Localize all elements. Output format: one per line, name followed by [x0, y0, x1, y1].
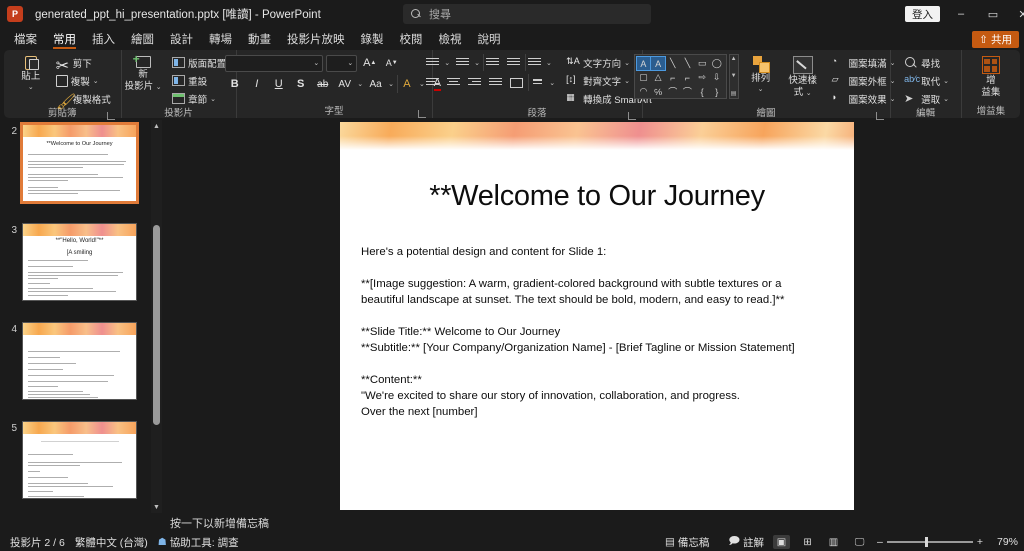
scrollbar-thumb[interactable] — [153, 225, 160, 425]
drawing-dialog-launcher[interactable] — [876, 112, 884, 120]
slide-editing-area: **Welcome to Our Journey Here's a potent… — [163, 120, 1024, 513]
numbering-chevron-down-icon[interactable]: ⌄ — [474, 59, 480, 67]
thumbnail-slide-2[interactable]: **Welcome to Our Journey — [22, 124, 137, 202]
replace-chevron-down-icon[interactable]: ⌄ — [943, 77, 949, 85]
quick-styles-button[interactable]: 快速樣 式 ⌄ — [783, 54, 823, 99]
gallery-scroll-down-icon[interactable]: ▼ — [731, 73, 737, 79]
reset-label: 重設 — [188, 74, 207, 88]
section-icon — [172, 93, 185, 104]
addins-group-label: 增益集 — [966, 105, 1016, 118]
slide-banner-gradient — [23, 125, 136, 137]
shrink-font-button[interactable]: A▼ — [382, 54, 401, 72]
share-button[interactable]: ⇧ 共用 — [972, 31, 1019, 48]
decrease-indent-button[interactable] — [483, 54, 501, 71]
slide-body-text[interactable]: Here's a potential design and content fo… — [361, 244, 824, 420]
bold-button[interactable]: B — [225, 75, 244, 93]
ribbon-group-paragraph: ⌄ ⌄ ⌄ ⌄ — [432, 50, 642, 118]
addins-button[interactable]: 增 益集 — [971, 54, 1011, 98]
cut-button[interactable]: ✂ 剪下 — [53, 54, 114, 71]
paste-icon — [25, 56, 37, 70]
smartart-icon: ▦ — [566, 92, 580, 106]
sign-in-button[interactable]: 登入 — [905, 6, 940, 22]
copy-icon — [56, 75, 68, 87]
reset-icon — [172, 75, 185, 86]
shape-effects-button[interactable]: ◗ 圖案效果 ⌄ — [829, 90, 899, 107]
shape-line[interactable]: ╲ — [666, 57, 680, 70]
paste-label: 貼上 — [21, 71, 40, 82]
share-label: 共用 — [991, 32, 1012, 47]
shape-right-brace[interactable]: } — [710, 85, 724, 98]
tab-slideshow[interactable]: 投影片放映 — [279, 28, 353, 50]
current-slide[interactable]: **Welcome to Our Journey Here's a potent… — [340, 122, 854, 510]
slides-group-label: 投影片 — [126, 107, 232, 120]
arrange-icon — [753, 56, 769, 72]
title-bar: P generated_ppt_hi_presentation.pptx [唯讀… — [0, 0, 1024, 28]
comments-button[interactable]: 🗩 註解 — [728, 533, 764, 551]
character-spacing-chevron-down-icon[interactable]: ⌄ — [357, 80, 363, 88]
shape-outline-icon: ▱ — [832, 74, 846, 88]
zoom-knob[interactable] — [925, 537, 928, 547]
text-direction-label: 文字方向 — [583, 56, 621, 70]
replace-label: 取代 — [921, 74, 940, 88]
justify-button[interactable] — [486, 74, 504, 91]
section-label: 章節 — [188, 92, 207, 106]
shape-curve-2[interactable]: ⌒ — [681, 85, 695, 98]
numbering-button[interactable] — [453, 54, 471, 71]
align-text-chevron-down-icon[interactable]: ⌄ — [624, 77, 630, 85]
format-painter-button[interactable]: 🖌 複製格式 — [53, 90, 114, 107]
font-dialog-launcher[interactable] — [418, 110, 426, 118]
shape-curve-1[interactable]: ⌒ — [666, 85, 680, 98]
view-slide-sorter-button[interactable]: ⊞ — [799, 535, 816, 549]
layout-icon — [172, 57, 185, 68]
shape-down-arrow[interactable]: ⇩ — [710, 71, 724, 84]
shape-elbow-1[interactable]: ⌐ — [666, 71, 680, 84]
format-painter-label: 複製格式 — [73, 92, 111, 106]
paragraph-group-label: 段落 — [437, 107, 638, 120]
tab-record[interactable]: 錄製 — [353, 28, 392, 50]
clipboard-dialog-launcher[interactable] — [107, 112, 115, 120]
list-item[interactable]: 4 — [0, 322, 150, 400]
shape-textbox-vertical[interactable]: A — [651, 57, 665, 70]
slide-counter[interactable]: 投影片 2 / 6 — [10, 535, 65, 550]
underline-button[interactable]: U — [269, 75, 288, 93]
addins-icon — [982, 56, 1000, 74]
accessibility-status[interactable]: ☗ 協助工具: 調查 — [158, 535, 239, 550]
select-button[interactable]: ➤ 選取 ⌄ — [901, 90, 952, 107]
view-normal-button[interactable]: ▣ — [773, 535, 790, 549]
tab-draw[interactable]: 繪圖 — [123, 28, 162, 50]
align-right-button[interactable] — [465, 74, 483, 91]
line-spacing-button[interactable] — [525, 54, 543, 71]
replace-icon: ab⁄c — [904, 74, 918, 88]
paste-chevron-down-icon[interactable]: ⌄ — [28, 83, 34, 91]
close-button[interactable]: ✕ — [1008, 0, 1024, 28]
notes-pane[interactable]: 按一下以新增備忘稿 — [163, 513, 1024, 533]
shape-elbow-2[interactable]: ⌐ — [681, 71, 695, 84]
thumbnail-number: 4 — [0, 322, 22, 400]
font-group-label: 字型 — [241, 105, 428, 118]
drawing-group-label: 繪圖 — [647, 107, 886, 120]
shape-left-brace[interactable]: { — [695, 85, 709, 98]
ribbon-group-addins: 增 益集 增益集 — [961, 50, 1020, 118]
search-icon — [411, 9, 422, 20]
shape-effects-label: 圖案效果 — [849, 92, 887, 106]
thumbnail-title: **"Hello, World!"** — [29, 238, 130, 244]
cut-label: 剪下 — [73, 56, 92, 70]
maximize-button[interactable]: ▭ — [978, 0, 1008, 28]
minimize-button[interactable]: – — [946, 0, 976, 28]
notes-placeholder: 按一下以新增備忘稿 — [170, 515, 269, 531]
cursor-icon: ➤ — [904, 92, 918, 106]
ribbon: 貼上 ⌄ ✂ 剪下 複製 ⌄ 🖌 複製格式 — [4, 50, 1020, 118]
change-case-chevron-down-icon[interactable]: ⌄ — [388, 80, 394, 88]
zoom-slider[interactable]: – + — [877, 536, 983, 548]
thumbnail-title: **Welcome to Our Journey — [29, 141, 130, 147]
status-bar-right: ▤ 備忘稿 🗩 註解 ▣ ⊞ ▥ 🖵 – + 79% — [655, 533, 1018, 551]
view-reading-button[interactable]: ▥ — [825, 535, 842, 549]
shape-fill-label: 圖案填滿 — [849, 56, 887, 70]
editing-group-label: 編輯 — [895, 107, 957, 120]
scissors-icon: ✂ — [56, 56, 70, 70]
line-spacing-chevron-down-icon[interactable]: ⌄ — [546, 59, 552, 67]
arrange-chevron-down-icon[interactable]: ⌄ — [758, 85, 764, 93]
powerpoint-logo-icon: P — [7, 6, 23, 22]
new-slide-icon — [136, 56, 151, 68]
zoom-level[interactable]: 79% — [992, 536, 1018, 548]
align-left-button[interactable] — [423, 74, 441, 91]
addins-label-1: 增 — [986, 75, 996, 86]
powerpoint-window: P generated_ppt_hi_presentation.pptx [唯讀… — [0, 0, 1024, 551]
tab-insert[interactable]: 插入 — [84, 28, 123, 50]
paste-button[interactable]: 貼上 ⌄ — [11, 54, 51, 91]
font-size-input[interactable]: ⌄ — [326, 55, 357, 72]
copy-chevron-down-icon[interactable]: ⌄ — [93, 77, 99, 85]
ribbon-group-slides: 新 投影片 ⌄ 版面配置 ⌄ 重設 章節 — [121, 50, 236, 118]
shape-textbox[interactable]: A — [637, 57, 651, 70]
find-button[interactable]: 尋找 — [901, 54, 952, 71]
paragraph-dialog-launcher[interactable] — [628, 112, 636, 120]
replace-button[interactable]: ab⁄c 取代 ⌄ — [901, 72, 952, 89]
ribbon-group-font: ⌄ ⌄ A▲ A▼ B I U S ab AV ⌄ — [236, 50, 432, 118]
font-name-input[interactable]: ⌄ — [225, 55, 323, 72]
increase-indent-button[interactable] — [504, 54, 522, 71]
paintbrush-icon: 🖌 — [56, 92, 70, 106]
strikethrough-button[interactable]: ab — [313, 75, 332, 93]
change-case-button[interactable]: Aa — [366, 75, 385, 93]
grow-font-button[interactable]: A▲ — [360, 54, 379, 72]
zoom-track[interactable] — [887, 541, 973, 542]
thumbnail-subtitle: [A smiling — [29, 250, 130, 256]
shape-rectangle[interactable]: ▭ — [695, 57, 709, 70]
zoom-in-button[interactable]: + — [977, 536, 983, 548]
notes-toggle-button[interactable]: ▤ 備忘稿 — [665, 535, 709, 550]
list-item[interactable]: 3 **"Hello, World!"** [A smiling — [0, 223, 150, 301]
slide-title[interactable]: **Welcome to Our Journey — [360, 180, 834, 213]
scroll-down-icon[interactable]: ▼ — [151, 501, 162, 513]
text-direction-chevron-down-icon[interactable]: ⌄ — [624, 59, 630, 67]
slide-banner-gradient — [23, 224, 136, 236]
search-icon — [904, 56, 918, 70]
bullets-button[interactable] — [423, 54, 441, 71]
italic-button[interactable]: I — [247, 75, 266, 93]
slide-banner-gradient — [23, 422, 136, 434]
thumbnail-slide-4[interactable] — [22, 322, 137, 400]
list-item[interactable]: 2 **Welcome to Our Journey — [0, 124, 150, 202]
search-placeholder: 搜尋 — [429, 6, 451, 22]
new-slide-label-1: 新 — [138, 69, 148, 80]
align-text-icon: [↕] — [566, 74, 580, 88]
shapes-gallery-scrollbar[interactable]: ▲ ▼ ▤ — [729, 54, 739, 99]
ribbon-tabs: 檔案 常用 插入 繪圖 設計 轉場 動畫 投影片放映 錄製 校閱 檢視 說明 ⇧… — [0, 28, 1024, 50]
list-item[interactable]: 5 — [0, 421, 150, 499]
shape-triangle[interactable]: △ — [651, 71, 665, 84]
clipboard-group-label: 剪貼簿 — [8, 107, 117, 120]
tab-home[interactable]: 常用 — [45, 28, 84, 50]
addins-label-2: 益集 — [981, 87, 1000, 98]
text-direction-icon: ⇅A — [566, 56, 580, 70]
ribbon-group-editing: 尋找 ab⁄c 取代 ⌄ ➤ 選取 ⌄ 編輯 — [890, 50, 961, 118]
find-label: 尋找 — [921, 56, 940, 70]
thumbnail-number: 3 — [0, 223, 22, 301]
quick-styles-icon — [793, 56, 813, 74]
shape-rounded-rect[interactable]: ▢ — [637, 71, 651, 84]
font-name-chevron-down-icon[interactable]: ⌄ — [313, 59, 319, 67]
columns-chevron-down-icon[interactable]: ⌄ — [549, 79, 555, 87]
language-indicator[interactable]: 繁體中文 (台灣) — [75, 535, 148, 550]
ribbon-group-clipboard: 貼上 ⌄ ✂ 剪下 複製 ⌄ 🖌 複製格式 — [4, 50, 121, 118]
slide-banner-gradient — [340, 122, 854, 150]
shape-fill-button[interactable]: ◔ 圖案填滿 ⌄ — [829, 54, 899, 71]
share-icon: ⇧ — [979, 34, 988, 46]
tab-transitions[interactable]: 轉場 — [201, 28, 240, 50]
text-direction-small-button[interactable] — [528, 74, 546, 91]
view-slideshow-button[interactable]: 🖵 — [851, 535, 868, 549]
ribbon-group-drawing: A A ╲ ╲ ▭ ◯ ▢ △ ⌐ ⌐ ⇨ ⇩ ◠ ℅ ⌒ ⌒ { — [642, 50, 890, 118]
new-slide-button[interactable]: 新 投影片 ⌄ — [119, 54, 167, 93]
gallery-more-icon[interactable]: ▤ — [731, 90, 737, 97]
shape-arrow[interactable]: ╲ — [681, 57, 695, 70]
tab-file[interactable]: 檔案 — [6, 28, 45, 50]
scroll-up-icon[interactable]: ▲ — [151, 120, 162, 132]
section-chevron-down-icon[interactable]: ⌄ — [210, 95, 216, 103]
zoom-out-button[interactable]: – — [877, 536, 883, 548]
thumbnail-slide-5[interactable] — [22, 421, 137, 499]
shapes-gallery[interactable]: A A ╲ ╲ ▭ ◯ ▢ △ ⌐ ⌐ ⇨ ⇩ ◠ ℅ ⌒ ⌒ { — [634, 54, 727, 99]
arrange-button[interactable]: 排列 ⌄ — [741, 54, 781, 93]
tab-design[interactable]: 設計 — [162, 28, 201, 50]
notes-icon: ▤ — [665, 536, 675, 548]
select-chevron-down-icon[interactable]: ⌄ — [943, 95, 949, 103]
shape-outline-button[interactable]: ▱ 圖案外框 ⌄ — [829, 72, 899, 89]
slide-banner-gradient — [23, 323, 136, 335]
document-title: generated_ppt_hi_presentation.pptx [唯讀] … — [35, 6, 321, 22]
gallery-scroll-up-icon[interactable]: ▲ — [731, 56, 737, 62]
bullets-chevron-down-icon[interactable]: ⌄ — [444, 59, 450, 67]
thumbnail-number: 5 — [0, 421, 22, 499]
shape-right-arrow[interactable]: ⇨ — [695, 71, 709, 84]
arrange-label: 排列 — [751, 73, 770, 84]
search-input[interactable]: 搜尋 — [403, 4, 651, 24]
shape-oval[interactable]: ◯ — [710, 57, 724, 70]
accessibility-icon: ☗ — [158, 537, 167, 548]
tab-view[interactable]: 檢視 — [431, 28, 470, 50]
new-slide-label-2: 投影片 — [125, 81, 154, 92]
shape-arc[interactable]: ◠ — [637, 85, 651, 98]
copy-label: 複製 — [71, 74, 90, 88]
tab-animations[interactable]: 動畫 — [240, 28, 279, 50]
text-shadow-button[interactable]: S — [291, 75, 310, 93]
slide-thumbnail-pane[interactable]: 2 **Welcome to Our Journey 3 **"Hello, — [0, 120, 150, 513]
tab-review[interactable]: 校閱 — [392, 28, 431, 50]
quick-styles-label-1: 快速樣 — [788, 75, 817, 86]
font-size-chevron-down-icon[interactable]: ⌄ — [347, 59, 353, 67]
select-label: 選取 — [921, 92, 940, 106]
status-bar: 投影片 2 / 6 繁體中文 (台灣) ☗ 協助工具: 調查 ▤ 備忘稿 🗩 註… — [0, 533, 1024, 551]
text-highlight-button[interactable]: A — [397, 75, 416, 93]
comment-icon: 🗩 — [728, 533, 740, 551]
thumbnail-pane-scrollbar[interactable]: ▲ ▼ — [151, 120, 162, 513]
shape-scribble[interactable]: ℅ — [651, 85, 665, 98]
character-spacing-button[interactable]: AV — [335, 75, 354, 93]
thumbnail-number: 2 — [0, 124, 22, 202]
align-center-button[interactable] — [444, 74, 462, 91]
copy-button[interactable]: 複製 ⌄ — [53, 72, 114, 89]
shape-outline-label: 圖案外框 — [849, 74, 887, 88]
thumbnail-slide-3[interactable]: **"Hello, World!"** [A smiling — [22, 223, 137, 301]
tab-help[interactable]: 說明 — [470, 28, 509, 50]
shape-fill-icon: ◔ — [832, 56, 846, 70]
quick-styles-label-2: 式 — [794, 87, 804, 98]
shape-effects-icon: ◗ — [832, 92, 846, 106]
columns-button[interactable] — [507, 74, 525, 91]
align-text-label: 對齊文字 — [583, 74, 621, 88]
